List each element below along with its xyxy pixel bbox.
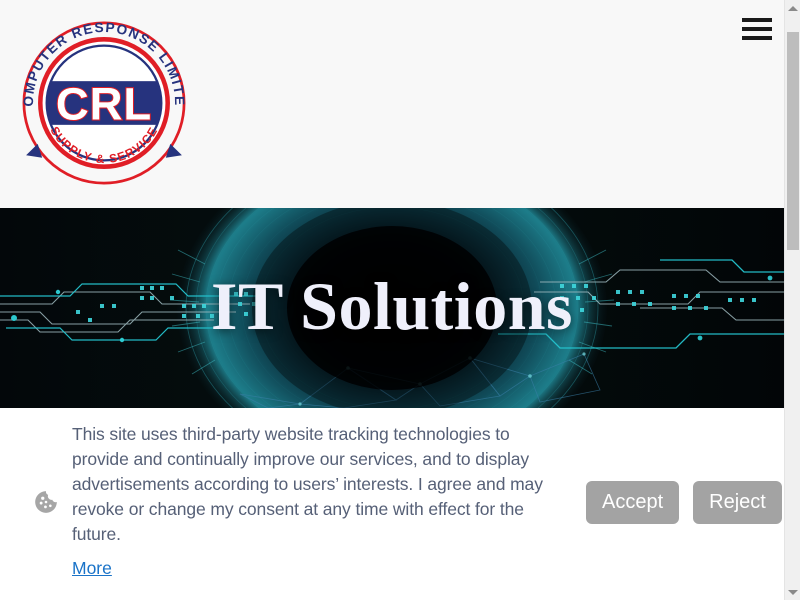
page-scrollbar[interactable] xyxy=(784,0,800,600)
accept-button[interactable]: Accept xyxy=(586,481,679,524)
scroll-thumb[interactable] xyxy=(787,32,799,250)
hero-title: IT Solutions xyxy=(0,208,784,408)
cookie-message: This site uses third-party website track… xyxy=(72,422,569,547)
hero-banner: IT Solutions xyxy=(0,208,784,408)
cookie-more-link[interactable]: More xyxy=(72,556,112,581)
cookie-icon xyxy=(33,489,59,515)
scroll-down-arrow[interactable] xyxy=(785,584,800,600)
hamburger-bar-3 xyxy=(742,36,772,40)
page-root: CRL COMPUTER RESPONSE LIMITED SUPPLY & S… xyxy=(0,0,800,600)
hamburger-bar-1 xyxy=(742,18,772,22)
scroll-up-arrow[interactable] xyxy=(785,0,800,16)
cookie-text-column: This site uses third-party website track… xyxy=(72,422,572,581)
site-header: CRL COMPUTER RESPONSE LIMITED SUPPLY & S… xyxy=(0,0,784,208)
cookie-action-buttons: Accept Reject xyxy=(586,481,782,524)
crl-logo-icon: CRL COMPUTER RESPONSE LIMITED SUPPLY & S… xyxy=(13,12,195,194)
reject-button[interactable]: Reject xyxy=(693,481,782,524)
logo[interactable]: CRL COMPUTER RESPONSE LIMITED SUPPLY & S… xyxy=(13,12,195,194)
hamburger-menu-icon[interactable] xyxy=(742,18,772,40)
svg-text:CRL: CRL xyxy=(56,78,152,129)
cookie-consent-banner: This site uses third-party website track… xyxy=(0,408,784,600)
hamburger-bar-2 xyxy=(742,27,772,31)
cookie-glyph xyxy=(33,489,59,515)
